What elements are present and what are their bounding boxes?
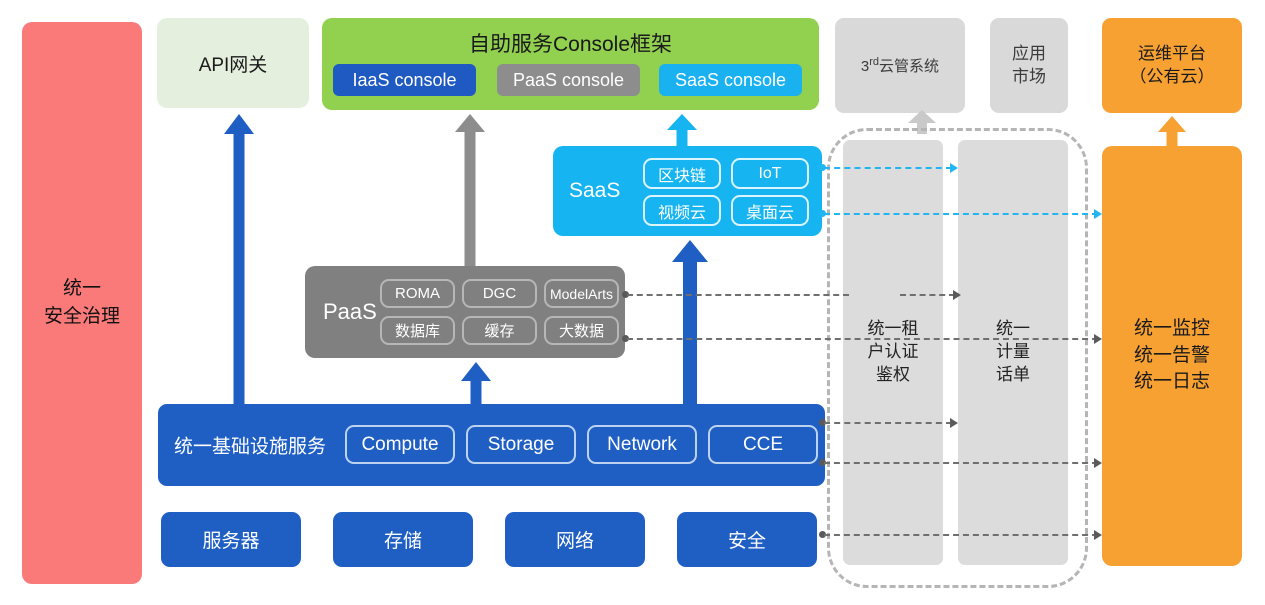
resource-box-server[interactable]: 服务器: [161, 512, 301, 567]
infra-item-compute[interactable]: Compute: [345, 425, 455, 464]
third-party-cloud-mgmt-label: 3rd云管系统: [861, 55, 939, 77]
saas-item-iot[interactable]: IoT: [731, 158, 809, 189]
connector-arrowhead-resources-ops: [1094, 530, 1102, 540]
unified-tenant-auth-label: 统一租 户认证 鉴权: [868, 318, 919, 387]
connector-arrowhead-saas-ops: [1094, 209, 1102, 219]
connector-infra-to-metering: [824, 422, 952, 424]
unified-security-governance-panel: 统一 安全治理: [22, 22, 142, 584]
paas-item-database[interactable]: 数据库: [380, 316, 455, 345]
saas-item-blockchain[interactable]: 区块链: [643, 158, 721, 189]
paas-label: PaaS: [323, 299, 377, 325]
connector-resources-to-ops: [824, 534, 1098, 536]
resource-box-security[interactable]: 安全: [677, 512, 817, 567]
console-framework-title: 自助服务Console框架: [322, 28, 819, 58]
arrow-infra-to-api-gateway: [224, 114, 254, 406]
api-gateway-label: API网关: [199, 50, 268, 77]
connector-infra-to-ops: [824, 462, 1098, 464]
resource-security-label: 安全: [728, 526, 766, 553]
unified-monitoring-panel: 统一监控 统一告警 统一日志: [1102, 146, 1242, 566]
saas-item-iot-label: IoT: [758, 165, 781, 183]
unified-metering-billing-column: 统一 计量 话单: [958, 140, 1068, 565]
connector-paas-to-auth: [627, 294, 849, 296]
arrow-infra-to-saas: [672, 240, 708, 410]
third-party-cloud-mgmt-box: 3rd云管系统: [835, 18, 965, 113]
paas-item-bigdata[interactable]: 大数据: [544, 316, 619, 345]
unified-monitoring-label: 统一监控 统一告警 统一日志: [1134, 316, 1210, 396]
iaas-console-button[interactable]: IaaS console: [333, 64, 476, 96]
infra-item-storage-label: Storage: [488, 434, 555, 456]
paas-item-roma-label: ROMA: [395, 285, 440, 302]
infra-item-compute-label: Compute: [361, 434, 438, 456]
ops-platform-top-label: 运维平台 （公有云）: [1130, 43, 1215, 89]
connector-paas-to-ops: [627, 338, 1098, 340]
saas-item-desktop-cloud[interactable]: 桌面云: [731, 195, 809, 226]
api-gateway-box: API网关: [157, 18, 309, 108]
resource-server-label: 服务器: [202, 526, 259, 553]
connector-saas-to-auth: [824, 167, 952, 169]
connector-saas-to-ops: [824, 213, 1098, 215]
unified-infrastructure-bar: 统一基础设施服务 Compute Storage Network CCE: [158, 404, 825, 486]
paas-item-dgc-label: DGC: [483, 285, 516, 302]
app-market-box: 应用 市场: [990, 18, 1068, 113]
arrow-ops-panel-to-ops-platform: [1157, 116, 1187, 146]
paas-console-button[interactable]: PaaS console: [497, 64, 640, 96]
resource-storage-label: 存储: [384, 526, 422, 553]
connector-auth-to-metering-top: [900, 294, 955, 296]
infra-item-cce[interactable]: CCE: [708, 425, 818, 464]
arrow-paas-to-console: [455, 114, 485, 266]
paas-item-modelarts-label: ModelArts: [550, 286, 613, 302]
unified-infrastructure-label: 统一基础设施服务: [174, 432, 326, 459]
resource-box-storage[interactable]: 存储: [333, 512, 473, 567]
connector-arrowhead-paas-ops: [1094, 334, 1102, 344]
unified-metering-billing-label: 统一 计量 话单: [996, 318, 1030, 387]
paas-item-modelarts[interactable]: ModelArts: [544, 279, 619, 308]
architecture-diagram: 统一 安全治理 API网关 自助服务Console框架 IaaS console…: [0, 0, 1265, 605]
saas-item-video-cloud-label: 视频云: [658, 199, 706, 223]
self-service-console-framework-panel: 自助服务Console框架 IaaS console PaaS console …: [322, 18, 819, 110]
saas-item-blockchain-label: 区块链: [658, 162, 706, 186]
unified-tenant-auth-column: 统一租 户认证 鉴权: [843, 140, 943, 565]
infra-item-storage[interactable]: Storage: [466, 425, 576, 464]
connector-arrowhead-saas-auth: [950, 163, 958, 173]
paas-item-bigdata-label: 大数据: [559, 320, 604, 341]
saas-block: SaaS 区块链 IoT 视频云 桌面云: [553, 146, 822, 236]
app-market-label: 应用 市场: [1012, 43, 1046, 87]
saas-label: SaaS: [569, 179, 620, 203]
saas-item-desktop-cloud-label: 桌面云: [746, 199, 794, 223]
saas-item-video-cloud[interactable]: 视频云: [643, 195, 721, 226]
resource-box-network[interactable]: 网络: [505, 512, 645, 567]
paas-item-dgc[interactable]: DGC: [462, 279, 537, 308]
arrow-infra-to-paas: [461, 362, 491, 410]
connector-arrowhead-auth-metering-top: [953, 290, 961, 300]
connector-arrowhead-infra-ops: [1094, 458, 1102, 468]
infra-item-network-label: Network: [607, 434, 677, 456]
paas-item-cache[interactable]: 缓存: [462, 316, 537, 345]
saas-console-button[interactable]: SaaS console: [659, 64, 802, 96]
saas-console-label: SaaS console: [675, 70, 786, 91]
iaas-console-label: IaaS console: [352, 70, 456, 91]
paas-item-database-label: 数据库: [395, 320, 440, 341]
infra-item-cce-label: CCE: [743, 434, 783, 456]
resource-network-label: 网络: [556, 526, 594, 553]
paas-item-roma[interactable]: ROMA: [380, 279, 455, 308]
paas-console-label: PaaS console: [513, 70, 624, 91]
connector-arrowhead-infra-metering: [950, 418, 958, 428]
ordinal-superscript: rd: [869, 56, 879, 68]
unified-security-governance-label: 统一 安全治理: [44, 275, 120, 330]
infra-item-network[interactable]: Network: [587, 425, 697, 464]
paas-block: PaaS ROMA DGC ModelArts 数据库 缓存 大数据: [305, 266, 625, 358]
paas-item-cache-label: 缓存: [484, 320, 514, 341]
ops-platform-top-box: 运维平台 （公有云）: [1102, 18, 1242, 113]
